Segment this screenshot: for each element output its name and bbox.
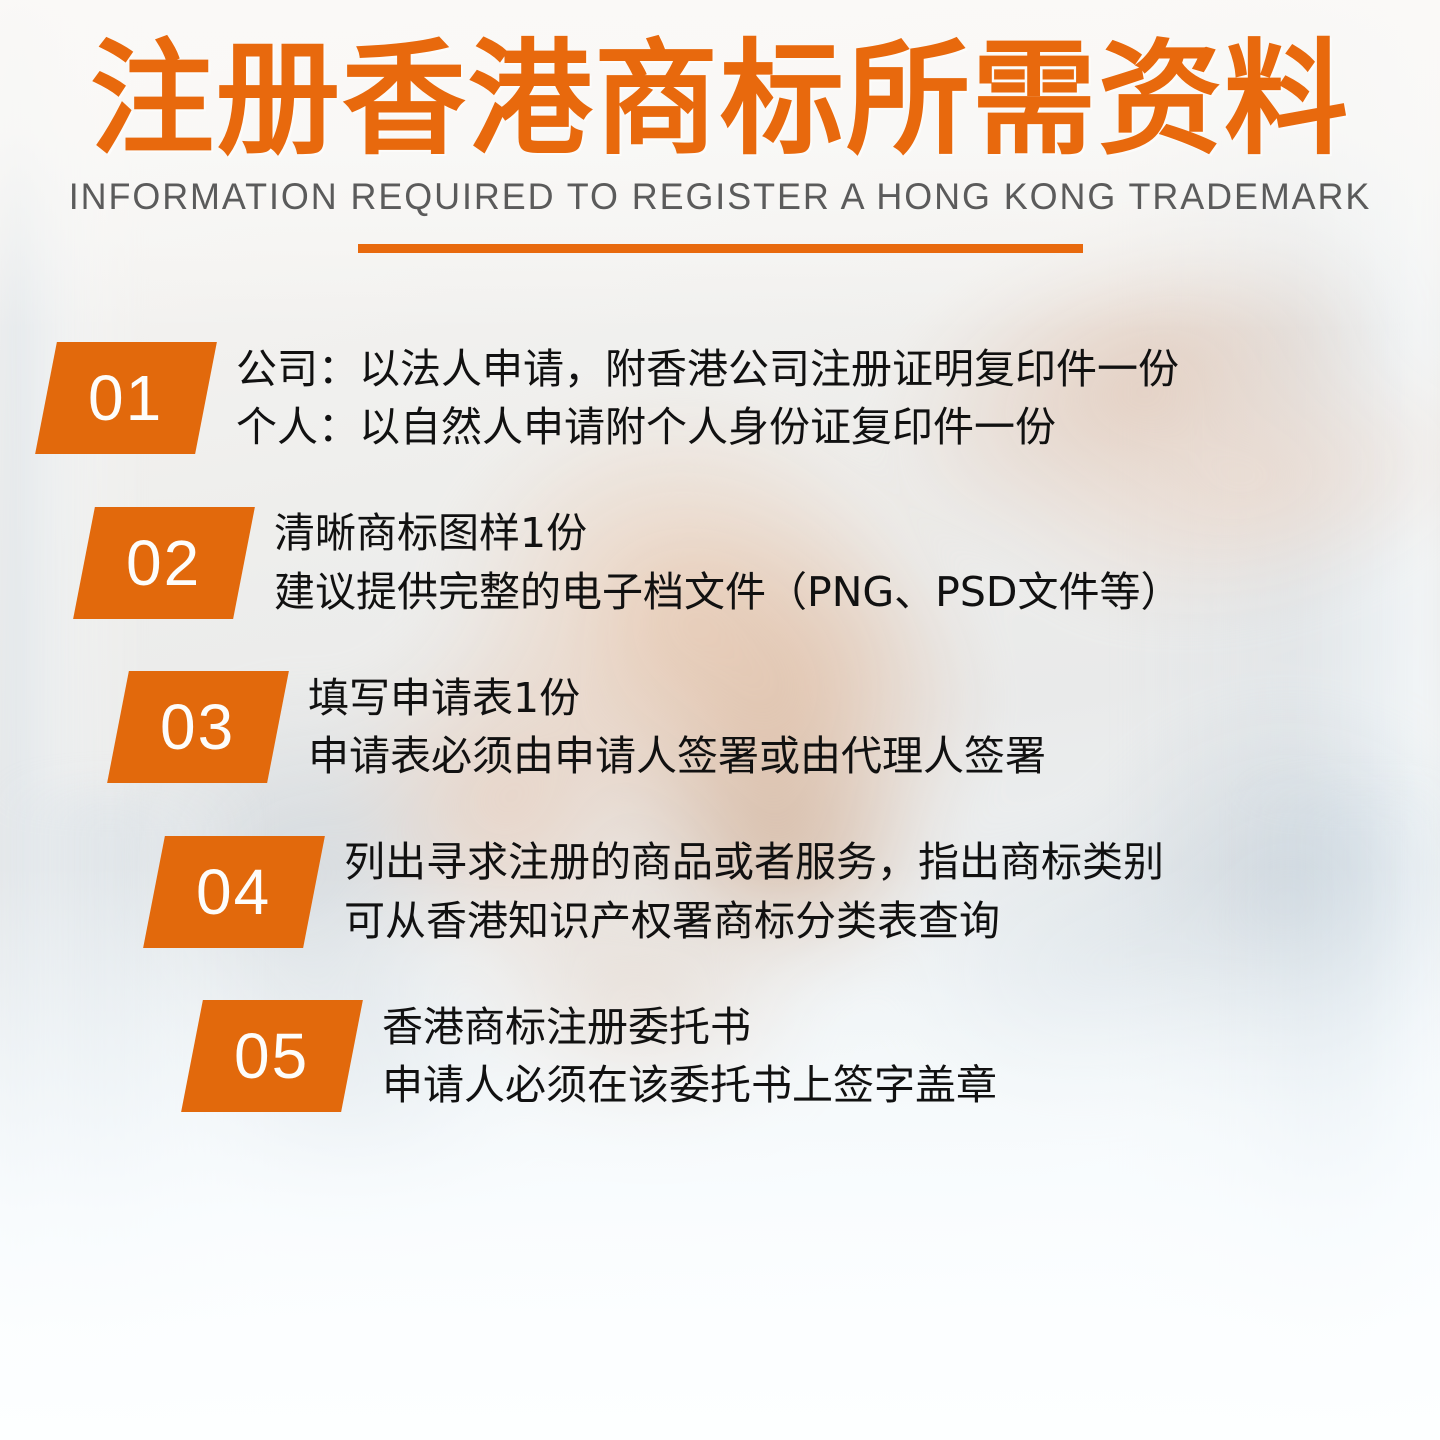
steps-list: 01 公司：以法人申请，附香港公司注册证明复印件一份 个人：以自然人申请附个人身… [0,340,1440,1114]
step-number-badge: 02 [73,507,255,619]
list-item: 04 列出寻求注册的商品或者服务，指出商标类别 可从香港知识产权署商标分类表查询 [0,833,1440,949]
poster-canvas: 注册香港商标所需资料 INFORMATION REQUIRED TO REGIS… [0,0,1440,1440]
page-title: 注册香港商标所需资料 [0,34,1440,168]
step-number-label: 05 [234,1024,309,1088]
step-text-line: 申请人必须在该委托书上签字盖章 [382,1056,997,1114]
list-item: 03 填写申请表1份 申请表必须由申请人签署或由代理人签署 [0,669,1440,785]
step-text-line: 建议提供完整的电子档文件（PNG、PSD文件等） [274,563,1181,621]
step-text: 清晰商标图样1份 建议提供完整的电子档文件（PNG、PSD文件等） [274,504,1181,620]
step-text-line: 清晰商标图样1份 [274,504,1181,562]
poster-header: 注册香港商标所需资料 INFORMATION REQUIRED TO REGIS… [0,34,1440,253]
step-number-label: 01 [88,366,163,430]
step-text-line: 列出寻求注册的商品或者服务，指出商标类别 [344,833,1164,891]
step-number-label: 03 [160,695,235,759]
step-number-badge: 03 [107,671,289,783]
step-text: 香港商标注册委托书 申请人必须在该委托书上签字盖章 [382,998,997,1114]
list-item: 02 清晰商标图样1份 建议提供完整的电子档文件（PNG、PSD文件等） [0,504,1440,620]
step-text-line: 个人：以自然人申请附个人身份证复印件一份 [236,398,1179,456]
step-number-label: 02 [126,531,201,595]
step-text-line: 公司：以法人申请，附香港公司注册证明复印件一份 [236,340,1179,398]
title-underline-rule [358,244,1083,253]
step-number-badge: 05 [181,1000,363,1112]
step-text-line: 申请表必须由申请人签署或由代理人签署 [308,727,1046,785]
step-text-line: 香港商标注册委托书 [382,998,997,1056]
list-item: 05 香港商标注册委托书 申请人必须在该委托书上签字盖章 [0,998,1440,1114]
step-text: 列出寻求注册的商品或者服务，指出商标类别 可从香港知识产权署商标分类表查询 [344,833,1164,949]
step-number-badge: 01 [35,342,217,454]
step-number-badge: 04 [143,836,325,948]
step-text-line: 填写申请表1份 [308,669,1046,727]
step-text-line: 可从香港知识产权署商标分类表查询 [344,892,1164,950]
step-number-label: 04 [196,860,271,924]
step-text: 填写申请表1份 申请表必须由申请人签署或由代理人签署 [308,669,1046,785]
page-subtitle: INFORMATION REQUIRED TO REGISTER A HONG … [22,176,1419,218]
list-item: 01 公司：以法人申请，附香港公司注册证明复印件一份 个人：以自然人申请附个人身… [0,340,1440,456]
step-text: 公司：以法人申请，附香港公司注册证明复印件一份 个人：以自然人申请附个人身份证复… [236,340,1179,456]
